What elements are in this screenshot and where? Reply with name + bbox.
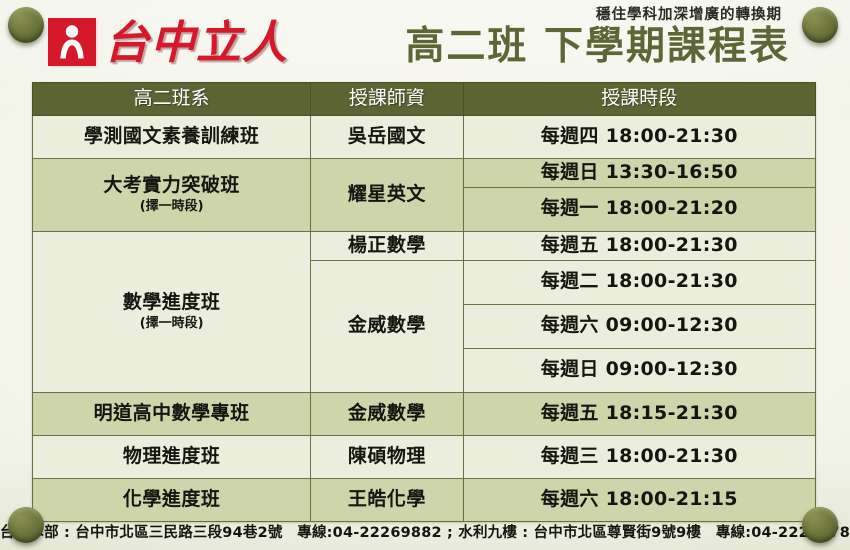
column-header-class: 高二班系 (33, 83, 311, 116)
cell-teacher: 楊正數學 (311, 231, 463, 260)
table-row: 數學進度班 (擇一時段) 楊正數學 每週五 18:00-21:30 (33, 231, 816, 260)
course-schedule-poster: 台中立人 穩住學科加深增廣的轉換期 高二班 下學期課程表 高二班系 授課師資 授… (0, 0, 850, 550)
cell-teacher: 耀星英文 (311, 159, 463, 232)
person-figure-logo-icon (48, 18, 96, 66)
contact-footer: 台中本部 : 台中市北區三民路三段94巷2號 專線:04-22269882 ; … (0, 521, 850, 542)
cell-class-name: 數學進度班 (擇一時段) (33, 231, 311, 392)
corner-screw-top-left (8, 7, 44, 43)
column-header-teacher: 授課師資 (311, 83, 463, 116)
title-block: 穩住學科加深增廣的轉換期 高二班 下學期課程表 (405, 2, 790, 68)
cell-timeslot: 每週六 09:00-12:30 (463, 304, 815, 348)
cell-timeslot: 每週日 13:30-16:50 (463, 159, 815, 188)
cell-timeslot: 每週三 18:00-21:30 (463, 435, 815, 478)
table-header-row: 高二班系 授課師資 授課時段 (33, 83, 816, 116)
corner-screw-top-right (802, 7, 838, 43)
cell-teacher: 陳碩物理 (311, 435, 463, 478)
course-schedule-table: 高二班系 授課師資 授課時段 學測國文素養訓練班 吳岳國文 每週四 18:00-… (32, 82, 816, 522)
poster-subtitle: 穩住學科加深增廣的轉換期 (405, 6, 782, 25)
cell-timeslot: 每週六 18:00-21:15 (463, 478, 815, 521)
table-row: 物理進度班 陳碩物理 每週三 18:00-21:30 (33, 435, 816, 478)
cell-class-name: 大考實力突破班 (擇一時段) (33, 159, 311, 232)
cell-class-name: 學測國文素養訓練班 (33, 116, 311, 159)
class-name-note: (擇一時段) (37, 199, 306, 215)
brand-name: 台中立人 (104, 20, 288, 65)
table-row: 學測國文素養訓練班 吳岳國文 每週四 18:00-21:30 (33, 116, 816, 159)
cell-teacher: 金威數學 (311, 392, 463, 435)
cell-timeslot: 每週五 18:00-21:30 (463, 231, 815, 260)
cell-class-name: 明道高中數學專班 (33, 392, 311, 435)
corner-screw-bottom-left (8, 507, 44, 543)
cell-class-name: 物理進度班 (33, 435, 311, 478)
class-name-text: 大考實力突破班 (103, 174, 240, 196)
cell-timeslot: 每週一 18:00-21:20 (463, 187, 815, 231)
poster-header: 台中立人 穩住學科加深增廣的轉換期 高二班 下學期課程表 (0, 0, 850, 82)
cell-teacher: 金威數學 (311, 260, 463, 392)
cell-class-name: 化學進度班 (33, 478, 311, 521)
table-row: 化學進度班 王皓化學 每週六 18:00-21:15 (33, 478, 816, 521)
class-name-text: 數學進度班 (123, 291, 221, 313)
cell-timeslot: 每週四 18:00-21:30 (463, 116, 815, 159)
table-row: 大考實力突破班 (擇一時段) 耀星英文 每週日 13:30-16:50 (33, 159, 816, 188)
page-title: 高二班 下學期課程表 (405, 26, 790, 68)
column-header-time: 授課時段 (463, 83, 815, 116)
cell-timeslot: 每週五 18:15-21:30 (463, 392, 815, 435)
class-name-note: (擇一時段) (37, 316, 306, 332)
cell-timeslot: 每週二 18:00-21:30 (463, 260, 815, 304)
table-row: 明道高中數學專班 金威數學 每週五 18:15-21:30 (33, 392, 816, 435)
corner-screw-bottom-right (802, 507, 838, 543)
cell-timeslot: 每週日 09:00-12:30 (463, 348, 815, 392)
brand-lockup: 台中立人 (48, 18, 288, 66)
cell-teacher: 吳岳國文 (311, 116, 463, 159)
cell-teacher: 王皓化學 (311, 478, 463, 521)
